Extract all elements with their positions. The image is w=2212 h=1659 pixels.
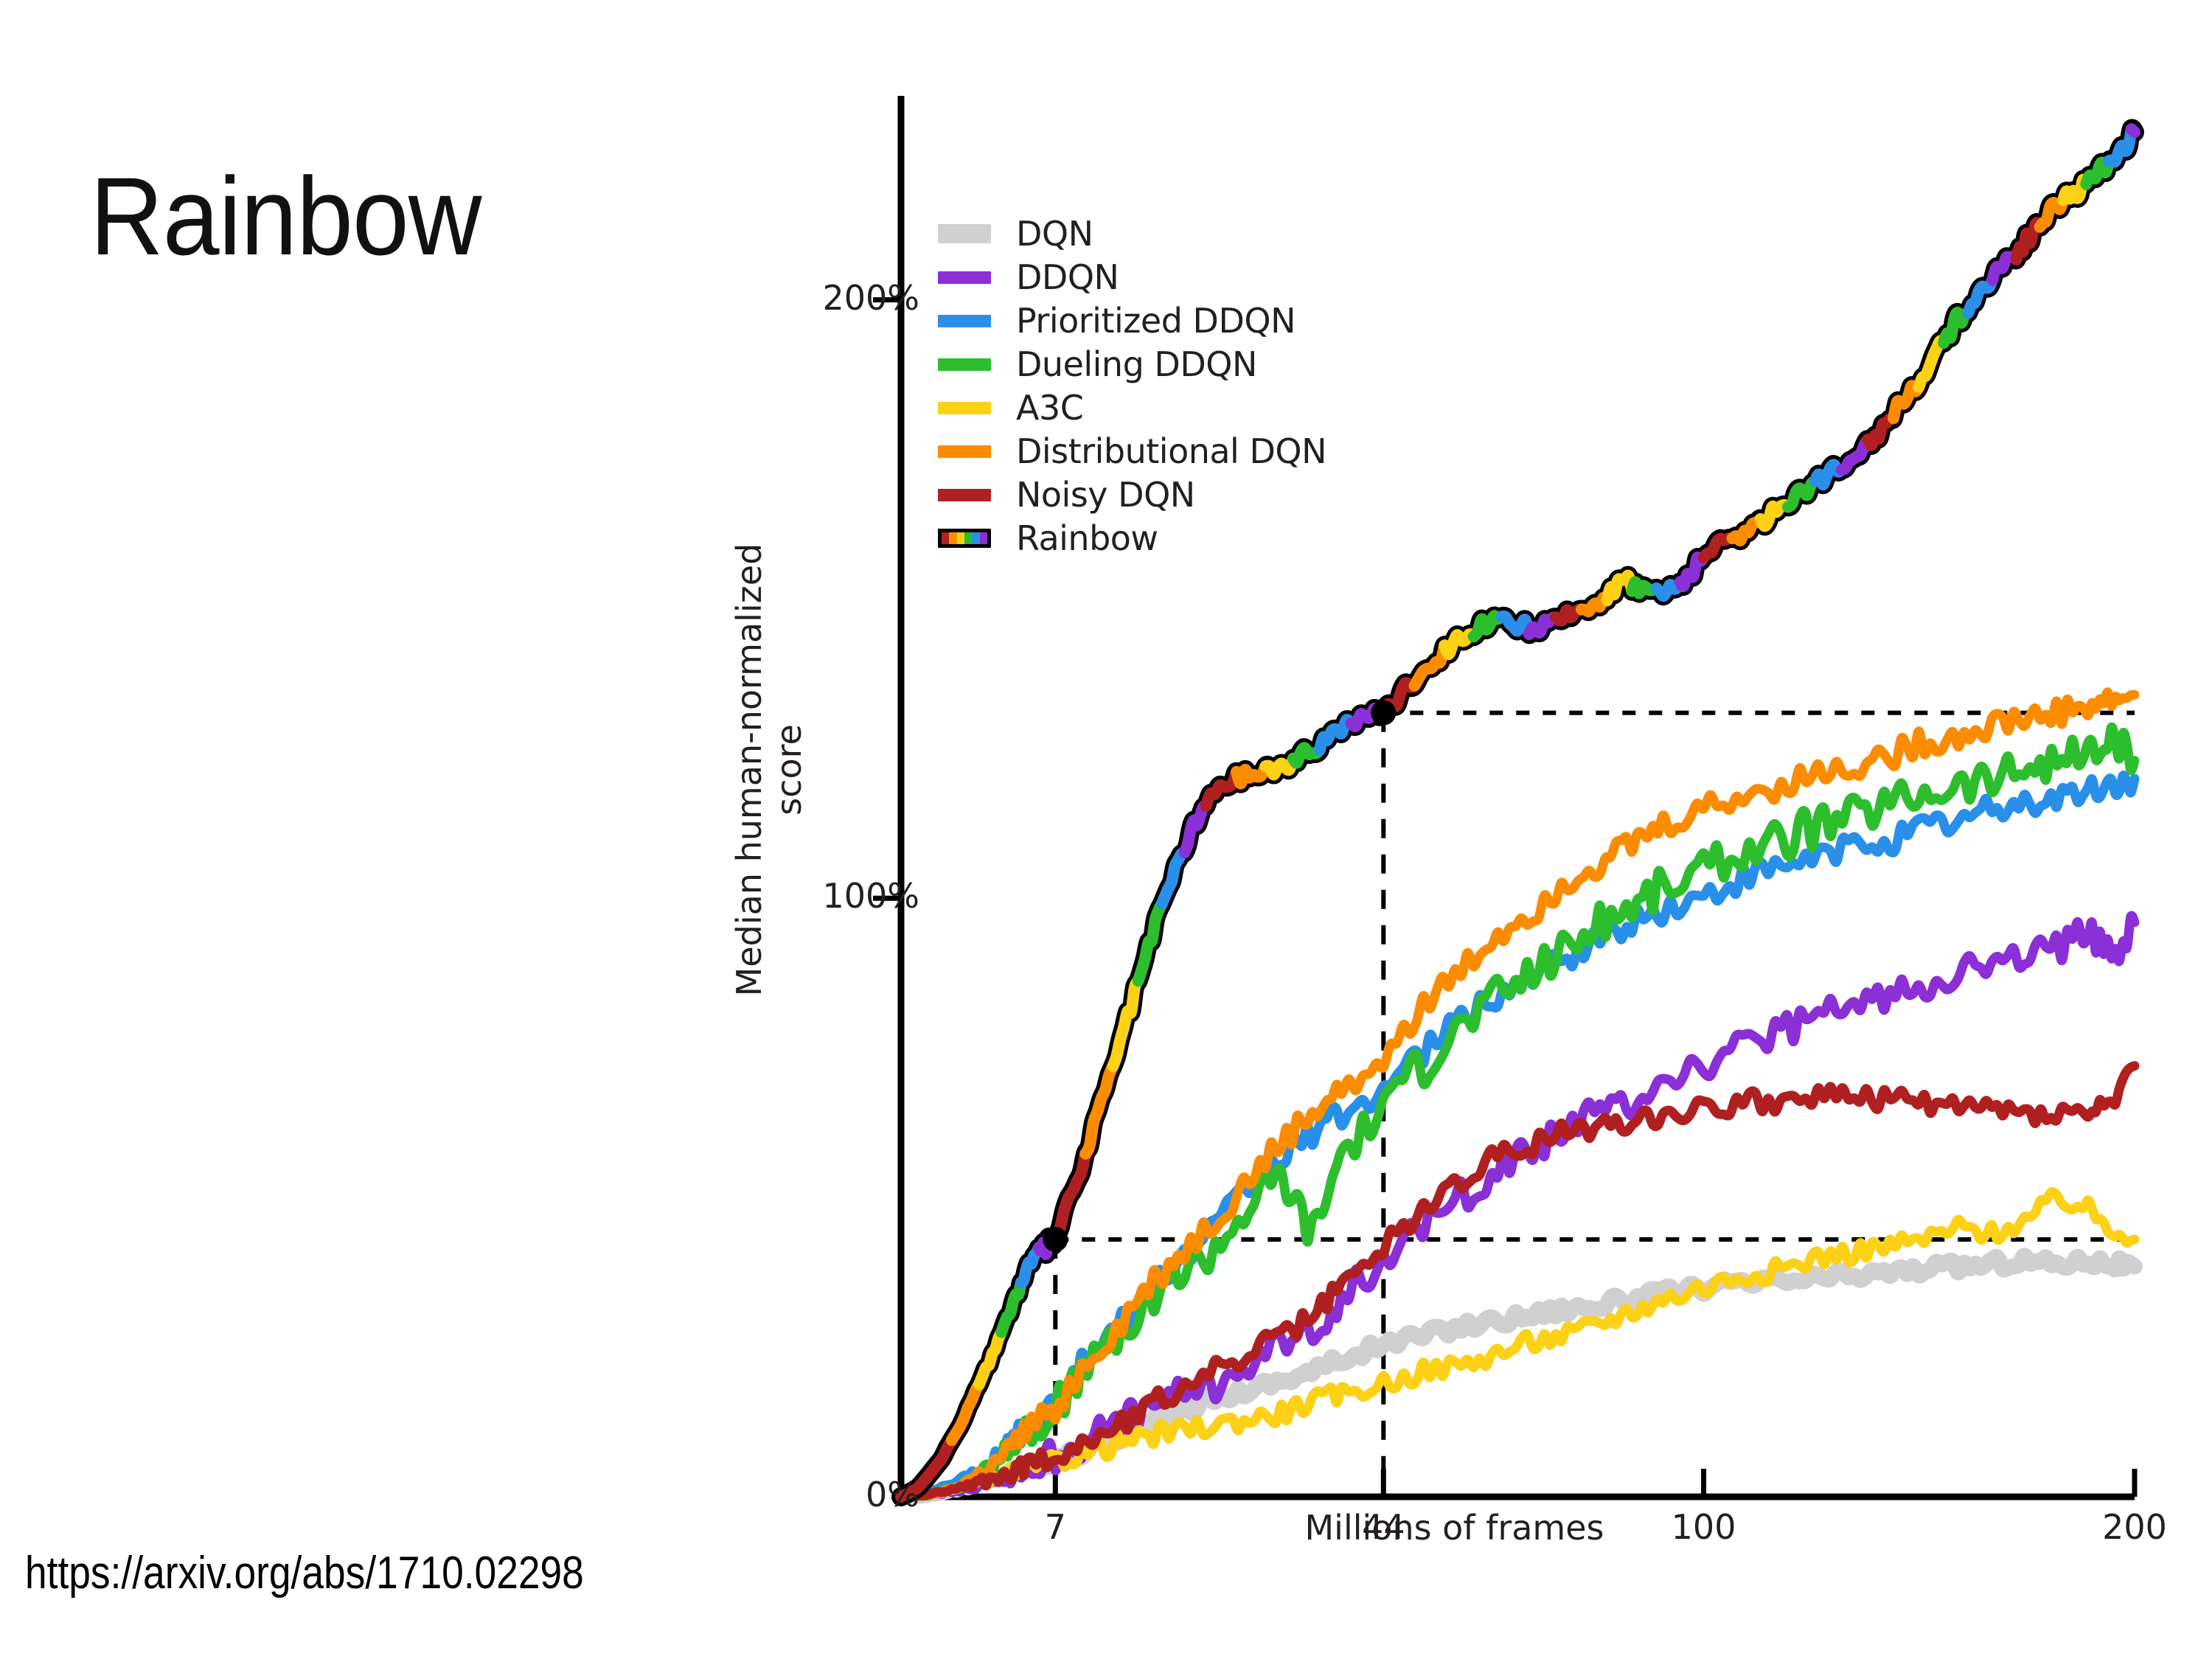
legend-swatch-icon bbox=[938, 358, 991, 371]
legend-item-noisy-dqn[interactable]: Noisy DQN bbox=[938, 473, 1410, 516]
rainbow-44m-marker bbox=[1371, 700, 1396, 726]
legend-item-label: Distributional DQN bbox=[1016, 431, 1326, 471]
x-axis-label: Millions of frames bbox=[726, 1508, 2183, 1548]
legend-swatch-icon bbox=[938, 224, 991, 243]
slide-title: Rainbow bbox=[90, 161, 481, 271]
legend-item-label: Dueling DDQN bbox=[1016, 344, 1257, 384]
legend-item-label: DDQN bbox=[1016, 257, 1119, 297]
legend-swatch-icon bbox=[938, 315, 991, 327]
series-line-ddqn bbox=[901, 916, 2135, 1497]
legend-item-dqn[interactable]: DQN bbox=[938, 212, 1410, 255]
legend-item-ddqn[interactable]: DDQN bbox=[938, 256, 1410, 299]
legend-item-label: A3C bbox=[1016, 388, 1083, 428]
legend-swatch-icon bbox=[938, 489, 991, 501]
legend-item-a3c[interactable]: A3C bbox=[938, 386, 1410, 429]
legend-item-dueling-ddqn[interactable]: Dueling DDQN bbox=[938, 343, 1410, 386]
legend-swatch-icon bbox=[938, 445, 991, 458]
x-tick-label: 200 bbox=[2102, 1507, 2167, 1547]
legend-item-label: Rainbow bbox=[1016, 518, 1158, 558]
y-axis-label: Median human-normalized score bbox=[729, 512, 809, 1028]
source-url: https://arxiv.org/abs/1710.02298 bbox=[25, 1547, 584, 1599]
y-tick-label: 100% bbox=[822, 876, 919, 916]
x-tick-label: 100 bbox=[1672, 1507, 1736, 1547]
dqn-match-marker bbox=[1043, 1227, 1068, 1252]
legend-item-label: Noisy DQN bbox=[1016, 475, 1195, 515]
legend-item-distributional-dqn[interactable]: Distributional DQN bbox=[938, 430, 1410, 473]
series-rainbow-segment bbox=[2132, 129, 2135, 132]
legend-item-label: DQN bbox=[1016, 214, 1093, 254]
legend-item-prioritized-ddqn[interactable]: Prioritized DDQN bbox=[938, 299, 1410, 342]
y-tick-label: 200% bbox=[822, 278, 919, 318]
legend-swatch-icon bbox=[938, 402, 991, 414]
legend-item-label: Prioritized DDQN bbox=[1016, 301, 1295, 341]
legend-item-rainbow[interactable]: Rainbow bbox=[938, 517, 1410, 560]
legend-swatch-icon bbox=[938, 271, 991, 284]
y-tick-label: 0% bbox=[866, 1475, 919, 1514]
legend-swatch-icon bbox=[938, 529, 991, 548]
chart-legend: DQNDDQNPrioritized DDQNDueling DDQNA3CDi… bbox=[938, 212, 1410, 560]
x-tick-label: 7 bbox=[1045, 1507, 1066, 1547]
x-tick-label: 44 bbox=[1362, 1507, 1405, 1547]
series-line-dueling-ddqn bbox=[901, 727, 2135, 1497]
